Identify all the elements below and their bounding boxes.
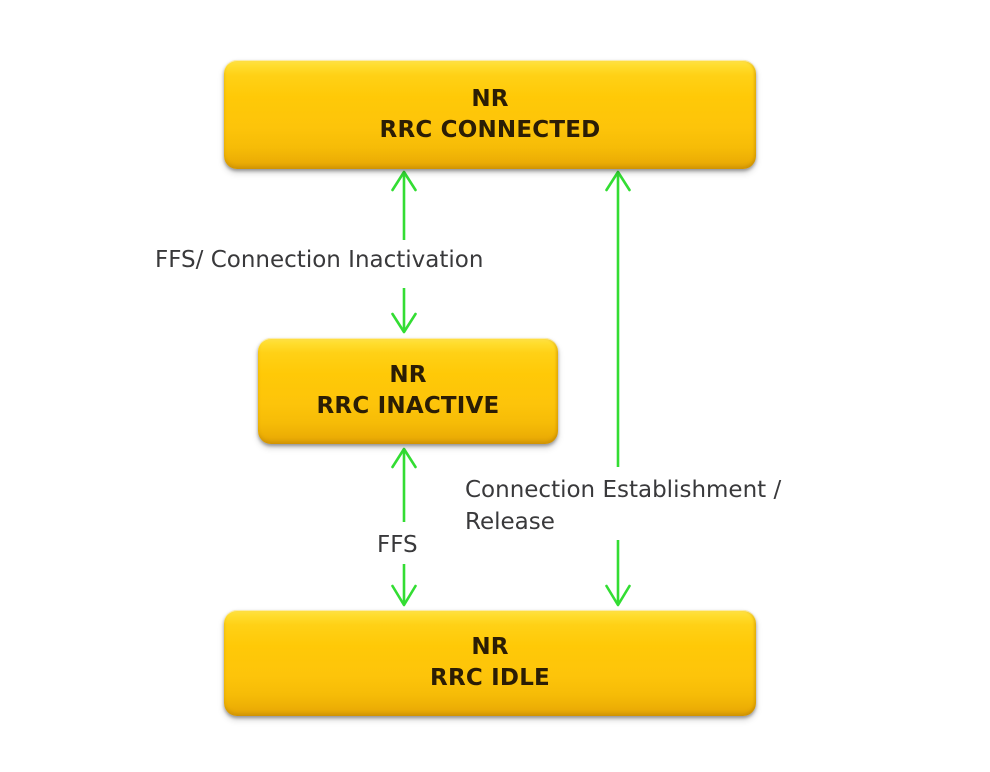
rrc-state-diagram: NR RRC CONNECTED NR RRC INACTIVE NR RRC … xyxy=(0,0,990,772)
transition-label-inactivation: FFS/ Connection Inactivation xyxy=(150,243,488,279)
transition-label-establishment-line1: Connection Establishment / xyxy=(465,475,850,507)
state-label-idle-line1: NR xyxy=(471,632,508,663)
transition-label-ffs: FFS xyxy=(371,528,424,564)
state-box-rrc-idle[interactable]: NR RRC IDLE xyxy=(224,610,756,716)
state-label-inactive-line1: NR xyxy=(389,360,426,391)
arrow-idle-to-inactive xyxy=(393,449,416,522)
arrow-inactive-to-idle xyxy=(393,562,416,605)
arrow-connected-to-inactive xyxy=(393,288,416,332)
state-label-connected-line2: RRC CONNECTED xyxy=(380,115,601,146)
state-label-connected-line1: NR xyxy=(471,84,508,115)
state-box-rrc-inactive[interactable]: NR RRC INACTIVE xyxy=(258,338,558,444)
arrow-connected-to-idle xyxy=(607,531,630,605)
transition-label-establishment-line2: Release xyxy=(465,507,850,539)
state-box-rrc-connected[interactable]: NR RRC CONNECTED xyxy=(224,60,756,169)
arrow-inactive-to-connected xyxy=(393,172,416,240)
state-label-inactive-line2: RRC INACTIVE xyxy=(317,391,500,422)
state-label-idle-line2: RRC IDLE xyxy=(430,663,550,694)
arrow-idle-to-connected xyxy=(607,172,630,467)
transition-label-establishment: Connection Establishment / Release xyxy=(460,473,855,540)
